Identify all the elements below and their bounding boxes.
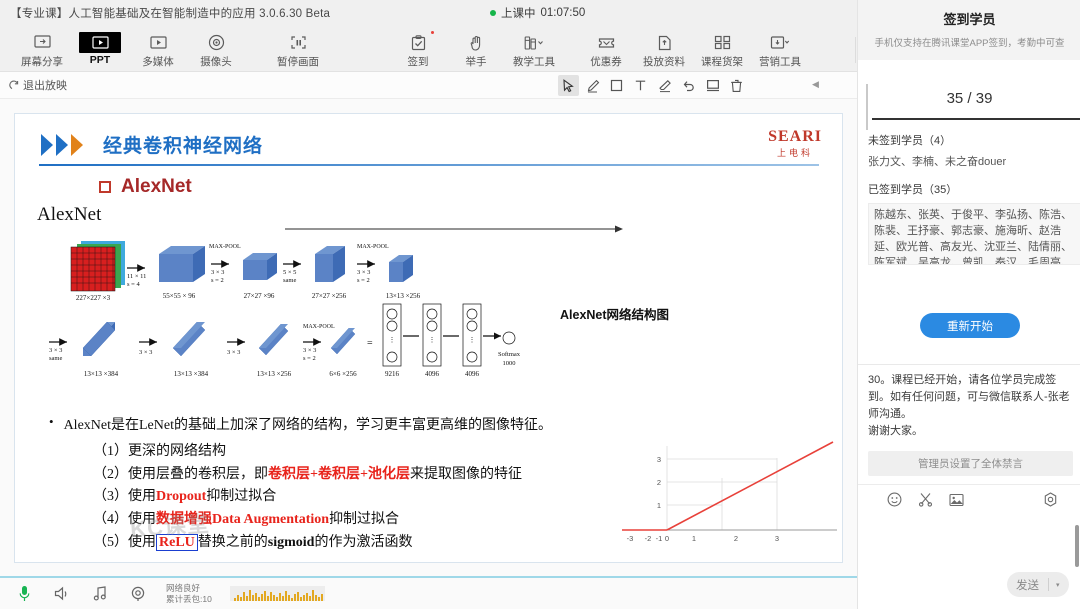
svg-text:11 × 11: 11 × 11 (127, 273, 146, 280)
rectangle-icon (610, 79, 623, 92)
svg-text:2: 2 (734, 534, 738, 543)
whiteboard-icon (706, 79, 720, 92)
pause-frame-label: 暂停画面 (277, 54, 319, 69)
distribute-material-label: 投放资料 (643, 54, 685, 69)
live-dot-icon (490, 10, 496, 16)
svg-text:13×13 ×256: 13×13 ×256 (257, 370, 292, 378)
ppt-label: PPT (90, 54, 110, 66)
svg-text:227×227 ×3: 227×227 ×3 (76, 294, 111, 302)
svg-text:5 × 5: 5 × 5 (283, 269, 296, 276)
scissors-icon[interactable] (917, 491, 934, 508)
chart-gridlines (667, 446, 777, 530)
course-shelf-label: 课程货架 (701, 54, 743, 69)
shape-tool-button[interactable] (606, 75, 627, 96)
chevron-down-icon[interactable]: ▾ (1049, 581, 1067, 589)
checkin-icon (406, 32, 430, 53)
svg-text:3 × 3: 3 × 3 (49, 347, 62, 354)
undo-icon (682, 79, 695, 92)
text-icon (634, 79, 647, 92)
highlight-text: Dropout (156, 489, 206, 504)
screen-share-button[interactable]: 屏幕分享 (14, 29, 70, 71)
svg-text:13×13 ×384: 13×13 ×384 (84, 370, 119, 378)
svg-text:s = 2: s = 2 (303, 355, 316, 362)
coupon-icon (594, 32, 618, 53)
seari-logo: SEARI 上电科 (768, 128, 822, 159)
panel-divider (858, 364, 1080, 365)
packet-loss-label: 累计丢包:10 (166, 594, 212, 604)
svg-text:same: same (49, 355, 62, 362)
checkin-button[interactable]: 签到 (390, 29, 446, 71)
slide-stage: 经典卷积神经网络 SEARI 上电科 AlexNet AlexNet (0, 99, 857, 565)
text-tool-button[interactable] (630, 75, 651, 96)
bullet-dot-icon: • (49, 414, 54, 434)
sub-bullet-item: （3）使用Dropout抑制过拟合 (93, 486, 689, 509)
distribute-material-button[interactable]: 投放资料 (636, 29, 692, 71)
bold-text: sigmoid (268, 535, 315, 550)
svg-text:3 × 3: 3 × 3 (357, 269, 370, 276)
unsigned-names: 张力文、李楠、未之奋douer (868, 154, 1080, 171)
annotation-collapse-button[interactable]: ◀ (812, 79, 819, 90)
slide-header: 经典卷积神经网络 SEARI 上电科 (15, 128, 843, 168)
svg-text:3 × 3: 3 × 3 (303, 347, 316, 354)
svg-text:⋮: ⋮ (469, 336, 476, 344)
plain-text: 使用 (128, 489, 156, 504)
main-toolbar: 屏幕分享 PPT 多媒体 (0, 26, 857, 72)
toolbar-divider (855, 37, 856, 63)
slide-section-title: AlexNet (121, 176, 192, 198)
send-button[interactable]: 发送 ▾ (1007, 572, 1069, 597)
toolbar-left-group: 屏幕分享 PPT 多媒体 (14, 29, 326, 71)
svg-text:Softmax: Softmax (498, 351, 521, 358)
image-icon[interactable] (948, 491, 965, 508)
chat-input-area[interactable]: 发送 ▾ (858, 514, 1080, 609)
toolbar-right-group: 签到 举手 教学工具 (390, 29, 808, 71)
tencent-classroom-window: 【专业课】人工智能基础及在智能制造中的应用 3.0.6.30 Beta 上课中 … (0, 0, 1080, 609)
svg-text:=: = (367, 338, 373, 349)
music-icon[interactable] (90, 584, 110, 604)
panel-title: 签到学员 (858, 9, 1080, 28)
checkin-counter: 35 / 39 (858, 90, 1080, 107)
marketing-tools-icon (768, 32, 792, 53)
bullet-main-text: AlexNet是在LeNet的基础上加深了网络的结构，学习更丰富更高维的图像特征… (64, 414, 552, 434)
svg-text:⋮: ⋮ (429, 336, 436, 344)
coupon-button[interactable]: 优惠券 (578, 29, 634, 71)
svg-text:s = 4: s = 4 (127, 281, 140, 288)
checkin-side-panel: 签到学员 手机仅支持在腾讯课堂APP签到，考勤中可查 35 / 39 未签到学员… (857, 0, 1080, 609)
pause-frame-button[interactable]: 暂停画面 (270, 29, 326, 71)
seari-logo-cn: 上电科 (768, 146, 822, 159)
network-quality-label: 网络良好 (166, 583, 200, 593)
diagram-title: AlexNet (37, 204, 101, 226)
svg-text:3 × 3: 3 × 3 (227, 349, 240, 356)
relu-function-chart: -3 -2 -1 0 1 2 3 1 2 3 (619, 438, 841, 560)
multimedia-button[interactable]: 多媒体 (130, 29, 186, 71)
pause-frame-icon (286, 32, 310, 53)
audio-level-bars (234, 588, 323, 601)
restart-checkin-button[interactable]: 重新开始 (920, 313, 1020, 338)
course-title: 【专业课】人工智能基础及在智能制造中的应用 3.0.6.30 Beta (0, 5, 330, 21)
slide-title: 经典卷积神经网络 (103, 131, 263, 158)
svg-text:MAX-POOL: MAX-POOL (209, 244, 241, 250)
exit-presentation-button[interactable]: 退出放映 (0, 77, 67, 93)
raise-hand-label: 举手 (466, 54, 487, 69)
camera-icon (204, 32, 228, 53)
speaker-icon[interactable] (52, 584, 72, 604)
chat-toolbar (858, 484, 1080, 514)
marketing-tools-button[interactable]: 营销工具 (752, 29, 808, 71)
svg-text:55×55 × 96: 55×55 × 96 (163, 292, 196, 300)
svg-text:6×6 ×256: 6×6 ×256 (329, 370, 357, 378)
alexnet-architecture-diagram: 227×227 ×3 11 × 11s = 4 55×55 × 96 MAX-P… (31, 226, 551, 396)
ppt-icon (79, 32, 121, 53)
svg-text:4096: 4096 (425, 370, 440, 378)
svg-text:3 × 3: 3 × 3 (139, 349, 152, 356)
screen-share-label: 屏幕分享 (21, 54, 63, 69)
student-lists: 未签到学员（4） 张力文、李楠、未之奋douer 已签到学员（35） 陈越东、张… (868, 132, 1080, 265)
signed-names: 陈越东、张英、于俊平、李弘扬、陈浩、陈裴、王抒豪、郭志豪、施海昕、赵浩延、欧光普… (868, 203, 1080, 265)
camera-status-icon[interactable] (128, 584, 148, 604)
panel-rule (872, 118, 1080, 120)
cursor-icon (562, 79, 575, 93)
exit-presentation-label: 退出放映 (23, 77, 67, 93)
screen-share-icon (30, 32, 54, 53)
diagram-caption: AlexNet网络结构图 (560, 304, 669, 323)
raise-hand-button[interactable]: 举手 (448, 29, 504, 71)
bullet-main-row: • AlexNet是在LeNet的基础上加深了网络的结构，学习更丰富更高维的图像… (49, 414, 689, 434)
pen-icon (586, 79, 600, 93)
course-shelf-icon (710, 32, 734, 53)
ppt-button[interactable]: PPT (72, 29, 128, 71)
plain-text: 抑制过拟合 (329, 512, 399, 527)
live-status: 上课中 01:07:50 (490, 0, 585, 26)
pen-tool-button[interactable] (582, 75, 603, 96)
square-bullet-icon (99, 181, 111, 193)
plain-text: 更深的网络结构 (128, 444, 226, 459)
svg-text:3 × 3: 3 × 3 (211, 269, 224, 276)
panel-subtitle: 手机仅支持在腾讯课堂APP签到，考勤中可查 (858, 35, 1080, 49)
sub-bullet-number: （3） (93, 489, 128, 504)
live-timer: 01:07:50 (541, 7, 586, 19)
course-shelf-button[interactable]: 课程货架 (694, 29, 750, 71)
plain-text: 来提取图像的特征 (410, 467, 522, 482)
svg-text:2: 2 (657, 478, 661, 487)
distribute-material-icon (652, 32, 676, 53)
plain-text: 抑制过拟合 (206, 489, 276, 504)
panel-scrollbar[interactable] (1075, 525, 1079, 567)
sub-bullet-number: （1） (93, 444, 128, 459)
svg-text:13×13 ×384: 13×13 ×384 (174, 370, 209, 378)
chevron-decoration-icon (39, 132, 95, 158)
exit-icon (9, 80, 20, 91)
panel-header: 签到学员 手机仅支持在腾讯课堂APP签到，考勤中可查 (858, 0, 1080, 60)
marketing-tools-label: 营销工具 (759, 54, 801, 69)
teaching-tools-label: 教学工具 (513, 54, 555, 69)
whiteboard-tool-button[interactable] (702, 75, 723, 96)
teaching-tools-button[interactable]: 教学工具 (506, 29, 562, 71)
highlight-text: 卷积层+卷积层+池化层 (268, 467, 410, 482)
sub-bullet-item: （1）更深的网络结构 (93, 441, 689, 464)
svg-text:1: 1 (657, 501, 661, 510)
undo-tool-button[interactable] (678, 75, 699, 96)
sub-bullet-number: （4） (93, 512, 128, 527)
annotation-tools-group (558, 75, 747, 96)
cursor-tool-button[interactable] (558, 75, 579, 96)
slide-watermark: KC课堂 (129, 506, 211, 543)
signed-heading: 已签到学员（35） (868, 181, 1080, 197)
raise-hand-icon (464, 32, 488, 53)
svg-text:-2: -2 (645, 534, 652, 543)
chat-messages: 30。课程已经开始，请各位学员完成签到。如有任何问题，可与微信联系人-张老师沟通… (868, 372, 1073, 476)
relu-positive-segment (667, 442, 833, 530)
bottom-status-bar: 网络良好 累计丢包:10 (0, 576, 857, 609)
microphone-icon[interactable] (14, 584, 34, 604)
svg-text:9216: 9216 (385, 370, 400, 378)
svg-text:s = 2: s = 2 (211, 277, 224, 284)
svg-text:s = 2: s = 2 (357, 277, 370, 284)
svg-text:MAX-POOL: MAX-POOL (303, 324, 335, 330)
title-bar: 【专业课】人工智能基础及在智能制造中的应用 3.0.6.30 Beta 上课中 … (0, 0, 857, 26)
gear-icon[interactable] (1042, 491, 1059, 508)
system-message: 管理员设置了全体禁言 (868, 451, 1073, 476)
svg-text:27×27 ×96: 27×27 ×96 (244, 292, 275, 300)
emoji-icon[interactable] (886, 491, 903, 508)
multimedia-label: 多媒体 (142, 54, 174, 69)
network-status: 网络良好 累计丢包:10 (166, 583, 212, 604)
svg-text:1: 1 (692, 534, 696, 543)
slide-header-rule (39, 164, 819, 166)
slide-section-heading: AlexNet (99, 176, 192, 198)
svg-text:13×13 ×256: 13×13 ×256 (386, 292, 421, 300)
classroom-main-area: 【专业课】人工智能基础及在智能制造中的应用 3.0.6.30 Beta 上课中 … (0, 0, 857, 609)
eraser-tool-button[interactable] (654, 75, 675, 96)
presentation-slide[interactable]: 经典卷积神经网络 SEARI 上电科 AlexNet AlexNet (14, 113, 843, 563)
delete-tool-button[interactable] (726, 75, 747, 96)
svg-text:MAX-POOL: MAX-POOL (357, 244, 389, 250)
multimedia-icon (146, 32, 170, 53)
svg-text:4096: 4096 (465, 370, 480, 378)
sub-bullet-number: （2） (93, 467, 128, 482)
checkin-badge-dot (431, 31, 434, 34)
chat-message: 30。课程已经开始，请各位学员完成签到。如有任何问题，可与微信联系人-张老师沟通… (868, 372, 1073, 440)
svg-text:-1: -1 (656, 534, 663, 543)
coupon-label: 优惠券 (590, 54, 622, 69)
trash-icon (730, 79, 743, 93)
sub-bullet-number: （5） (93, 535, 128, 550)
audio-level-meter (230, 586, 325, 601)
annotation-pointer-arrow (285, 224, 625, 234)
svg-text:same: same (283, 277, 296, 284)
plain-text: 使用层叠的卷积层，即 (128, 467, 268, 482)
checkin-label: 签到 (408, 54, 429, 69)
camera-button[interactable]: 摄像头 (188, 29, 244, 71)
svg-text:0: 0 (665, 534, 669, 543)
annotation-toolbar: 退出放映 (0, 72, 857, 99)
svg-text:27×27 ×256: 27×27 ×256 (312, 292, 347, 300)
unsigned-heading: 未签到学员（4） (868, 132, 1080, 148)
camera-label: 摄像头 (200, 54, 232, 69)
seari-logo-en: SEARI (768, 128, 822, 146)
eraser-icon (658, 79, 672, 93)
svg-text:3: 3 (775, 534, 779, 543)
svg-text:3: 3 (657, 455, 661, 464)
plain-text: 的作为激活函数 (314, 535, 412, 550)
sub-bullet-item: （2）使用层叠的卷积层，即卷积层+卷积层+池化层来提取图像的特征 (93, 464, 689, 487)
send-label: 发送 (1007, 577, 1048, 593)
teaching-tools-icon (522, 32, 546, 53)
svg-text:⋮: ⋮ (389, 336, 396, 344)
svg-text:-3: -3 (627, 534, 634, 543)
svg-text:1000: 1000 (503, 360, 516, 367)
live-label: 上课中 (501, 5, 536, 21)
